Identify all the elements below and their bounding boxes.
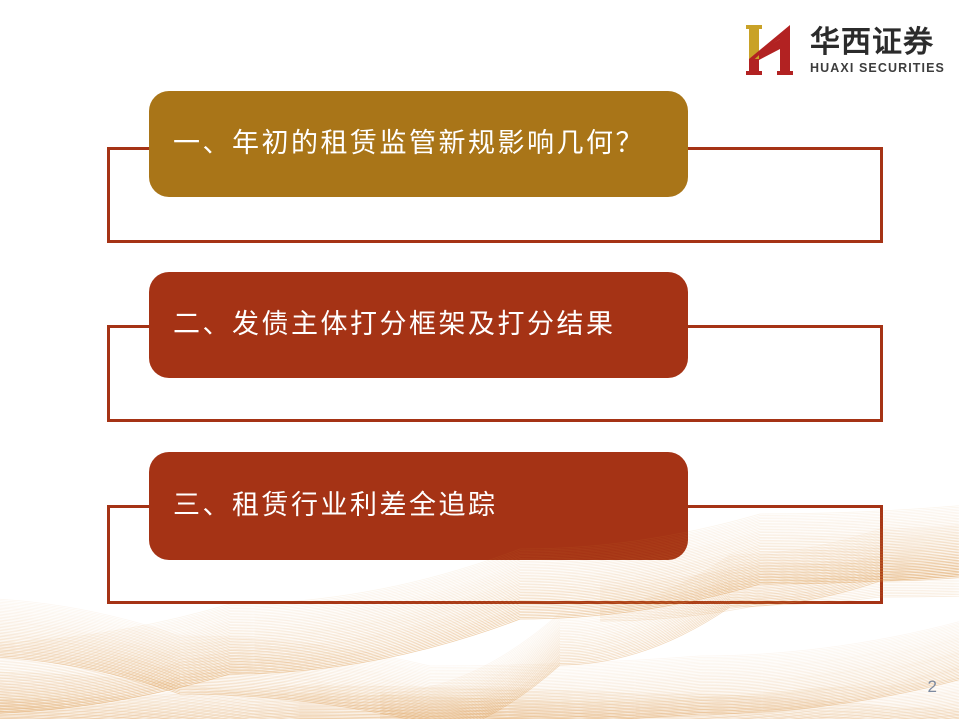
agenda-item-1-box[interactable]: 一、年初的租赁监管新规影响几何？ [149,91,688,197]
agenda-item-3-box[interactable]: 三、租赁行业利差全追踪 [149,452,688,560]
agenda-item-3-label: 三、租赁行业利差全追踪 [173,490,498,522]
agenda-list: 一、年初的租赁监管新规影响几何？ 二、发债主体打分框架及打分结果 三、租赁行业利… [0,0,959,640]
agenda-item-2-box[interactable]: 二、发债主体打分框架及打分结果 [149,272,688,378]
agenda-item-1-label: 一、年初的租赁监管新规影响几何？ [173,128,645,160]
agenda-item-2-label: 二、发债主体打分框架及打分结果 [173,309,616,341]
page-number: 2 [928,677,937,697]
slide-canvas: 华西证券 HUAXI SECURITIES 一、年初的租赁监管新规影响几何？ 二… [0,0,959,719]
